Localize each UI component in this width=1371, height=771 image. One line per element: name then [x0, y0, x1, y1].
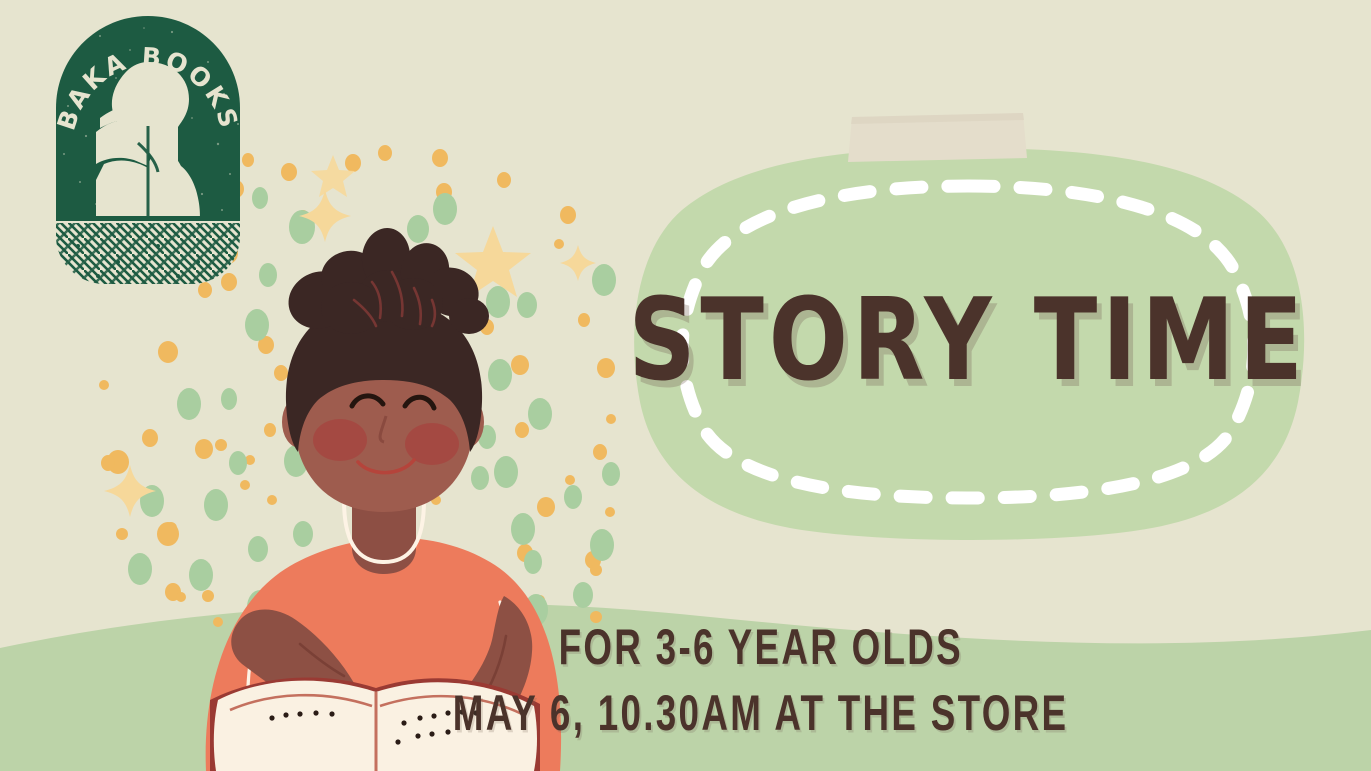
audience-line: FOR 3-6 YEAR OLDS — [0, 626, 1371, 671]
audience-line-text: FOR 3-6 YEAR OLDS — [558, 620, 962, 676]
poster-canvas: BAKA BOOKS — [0, 0, 1371, 771]
datetime-line-text: MAY 6, 10.30AM AT THE STORE — [453, 686, 1069, 742]
datetime-line: MAY 6, 10.30AM AT THE STORE — [0, 692, 1371, 737]
